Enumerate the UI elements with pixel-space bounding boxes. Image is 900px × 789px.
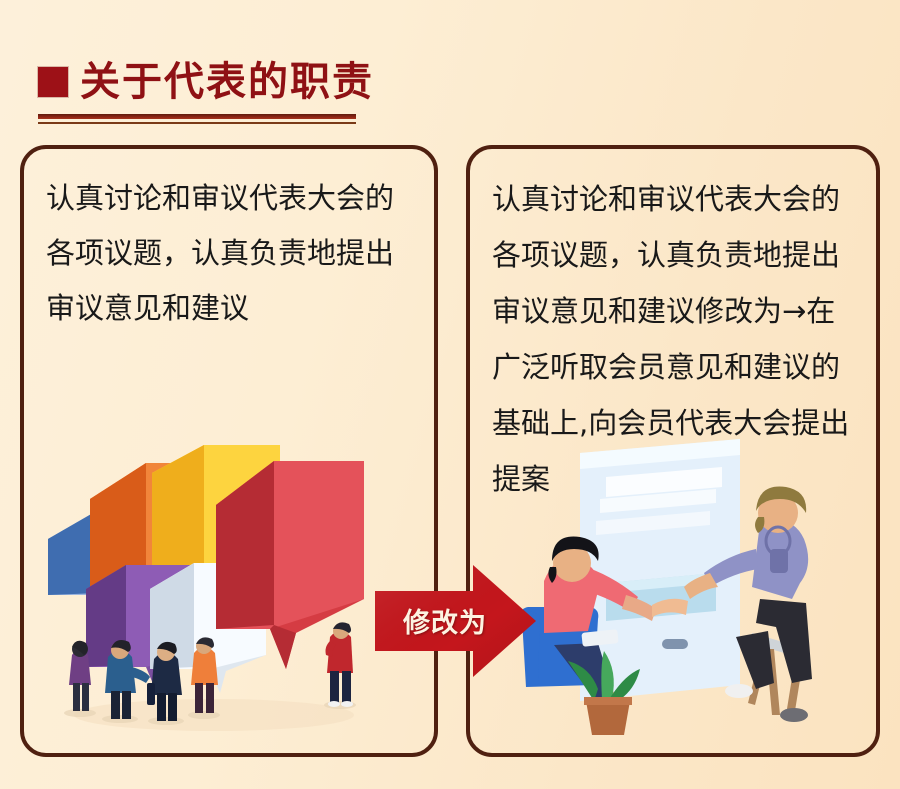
red-square-bullet-icon	[38, 67, 68, 97]
page-title: 关于代表的职责	[80, 60, 374, 104]
title-underline-thin	[38, 122, 356, 124]
arrow-shape-icon	[373, 563, 538, 679]
card-before-text: 认真讨论和审议代表大会的各项议题，认真负责地提出审议意见和建议	[46, 171, 418, 336]
speech-bubbles-crowd-illustration	[34, 443, 424, 743]
title-underline	[38, 114, 356, 124]
figure-man-red-standing	[324, 622, 356, 709]
card-after-text: 认真讨论和审议代表大会的各项议题，认真负责地提出审议意见和建议修改为→在广泛听取…	[492, 171, 860, 507]
page-title-block: 关于代表的职责	[38, 58, 458, 138]
modification-arrow: 修改为	[373, 563, 538, 679]
poster-root: 关于代表的职责 认真讨论和审议代表大会的各项议题，认真负责地提出审议意见和建议	[0, 0, 900, 789]
page-title-row: 关于代表的职责	[38, 58, 458, 106]
